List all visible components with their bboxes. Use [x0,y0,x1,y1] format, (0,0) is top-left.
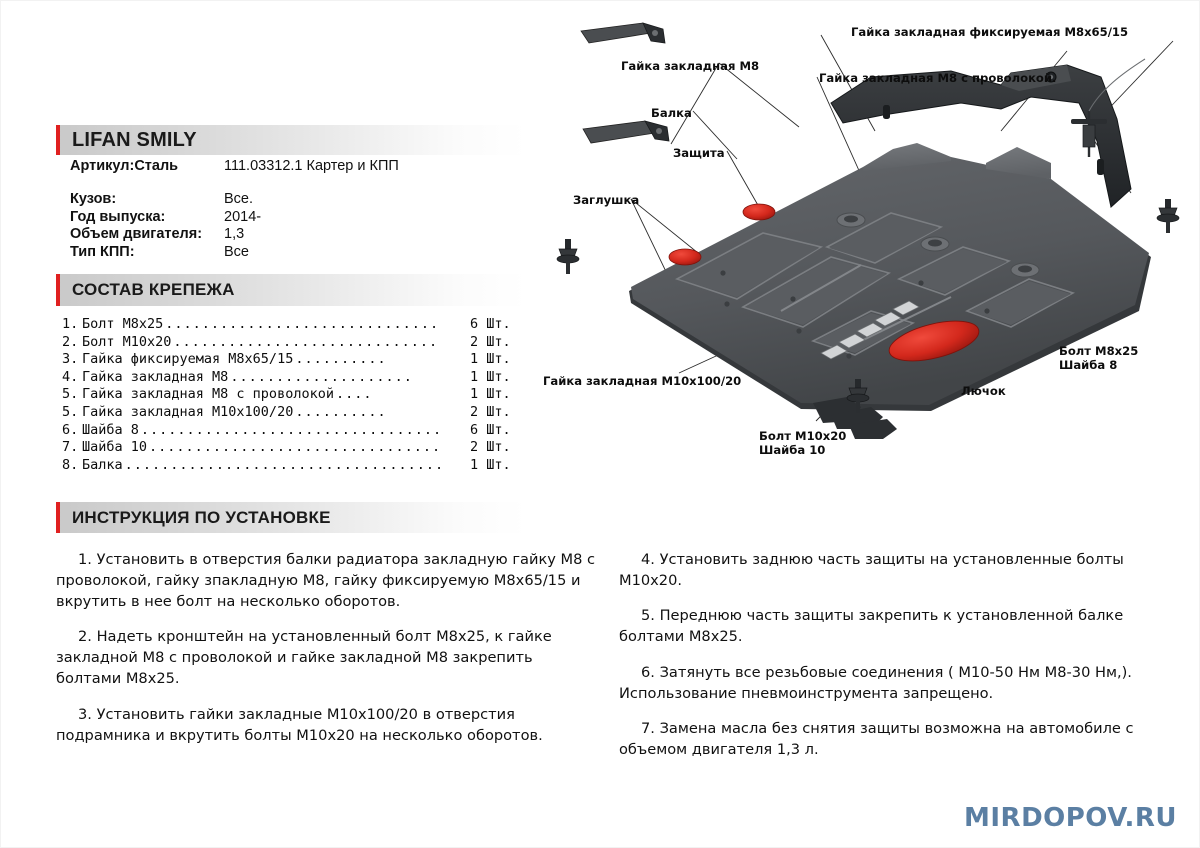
parts-list-item: 3.Гайка фиксируемая М8х65/15..........1 … [62,351,526,369]
part-quantity: 1 Шт. [470,369,526,387]
instruction-step: 4. Установить заднюю часть защиты на уст… [619,549,1179,591]
part-name: Балка [82,457,123,475]
instructions-right-column: 4. Установить заднюю часть защиты на уст… [619,534,1179,760]
part-dot-leader: ................................ [149,439,468,457]
part-dot-leader: .............................. [165,316,468,334]
part-index: 5. [62,386,82,404]
part-name: Шайба 8 [82,422,139,440]
spec-value: 1,3 [224,226,244,244]
callout-gaika-m10x100: Гайка закладная М10х100/20 [543,374,741,388]
spec-label: Год выпуска: [56,209,224,227]
parts-list-item: 5.Гайка закладная М8 с проволокой....1 Ш… [62,386,526,404]
part-quantity: 1 Шт. [470,386,526,404]
part-name: Гайка закладная М8 [82,369,228,387]
part-quantity: 2 Шт. [470,334,526,352]
part-name: Гайка закладная М10х100/20 [82,404,293,422]
product-title-bar: LIFAN SMILY [56,125,526,155]
callout-bolt-m8x25: Болт М8х25Шайба 8 [1059,344,1138,372]
callout-zashchita: Защита [673,146,725,160]
part-name: Гайка закладная М8 с проволокой [82,386,334,404]
part-dot-leader: ............................. [173,334,468,352]
spec-label: Тип КПП: [56,244,224,262]
spec-table: Кузов:Все.Год выпуска:2014-Объем двигате… [56,191,526,261]
instruction-step: 3. Установить гайки закладные М10х100/20… [56,704,601,746]
part-dot-leader: .......... [295,351,468,369]
parts-list-item: 4.Гайка закладная М8....................… [62,369,526,387]
part-name: Гайка фиксируемая М8х65/15 [82,351,293,369]
page-title: LIFAN SMILY [56,129,197,152]
spec-row: Объем двигателя:1,3 [56,226,526,244]
bolt-glyph-left [557,239,579,274]
part-quantity: 1 Шт. [470,351,526,369]
part-index: 6. [62,422,82,440]
part-quantity: 2 Шт. [470,439,526,457]
callout-balka: Балка [651,106,692,120]
callout-gaika-fiksiruemaya: Гайка закладная фиксируемая М8х65/15 [851,25,1128,39]
part-quantity: 2 Шт. [470,404,526,422]
callout-zaglushka: Заглушка [573,193,639,207]
spec-row: Год выпуска:2014- [56,209,526,227]
part-index: 5. [62,404,82,422]
document-page: LIFAN SMILY Артикул:Сталь 111.03312.1 Ка… [0,0,1200,848]
spec-label: Объем двигателя: [56,226,224,244]
part-dot-leader: ................................. [141,422,468,440]
callout-gaika-s-provolokoy: Гайка закладная М8 с проволокой. [819,71,1056,85]
part-name: Болт М10х20 [82,334,171,352]
parts-list: 1.Болт М8х25............................… [56,316,526,474]
instruction-step: 1. Установить в отверстия балки радиатор… [56,549,601,612]
article-value: 111.03312.1 Картер и КПП [224,158,399,174]
skid-plate-body [629,143,1151,439]
spec-value: Все. [224,191,253,209]
spec-label: Кузов: [56,191,224,209]
instructions-left-column: 1. Установить в отверстия балки радиатор… [56,534,601,746]
part-index: 4. [62,369,82,387]
spec-row: Тип КПП:Все [56,244,526,262]
parts-list-item: 8.Балка.................................… [62,457,526,475]
part-quantity: 6 Шт. [470,422,526,440]
part-name: Шайба 10 [82,439,147,457]
callout-gaika-zakladnaya-m8: Гайка закладная М8 [621,59,759,73]
spec-row: Кузов:Все. [56,191,526,209]
parts-list-item: 5.Гайка закладная М10х100/20..........2 … [62,404,526,422]
parts-section-header: СОСТАВ КРЕПЕЖА [56,274,526,306]
instruction-step: 6. Затянуть все резьбовые соединения ( М… [619,662,1179,704]
parts-list-item: 1.Болт М8х25............................… [62,316,526,334]
part-index: 1. [62,316,82,334]
article-row: Артикул:Сталь 111.03312.1 Картер и КПП [56,158,526,174]
part-index: 7. [62,439,82,457]
site-watermark: MIRDOPOV.RU [964,803,1177,833]
parts-section-title: СОСТАВ КРЕПЕЖА [56,280,235,300]
bolt-glyph-right [1157,199,1179,233]
parts-list-item: 6.Шайба 8...............................… [62,422,526,440]
product-info-block: LIFAN SMILY Артикул:Сталь 111.03312.1 Ка… [56,125,526,474]
part-quantity: 1 Шт. [470,457,526,475]
instruction-step: 7. Замена масла без снятия защиты возмож… [619,718,1179,760]
skid-plate-diagram: Гайка закладная фиксируемая М8х65/15Гайк… [531,11,1196,481]
instruction-step: 2. Надеть кронштейн на установленный бол… [56,626,601,689]
callout-bolt-m10x20: Болт М10х20Шайба 10 [759,429,846,457]
instructions-section-header: ИНСТРУКЦИЯ ПО УСТАНОВКЕ [56,502,526,533]
part-quantity: 6 Шт. [470,316,526,334]
parts-list-item: 2.Болт М10х20...........................… [62,334,526,352]
instruction-step: 5. Переднюю часть защиты закрепить к уст… [619,605,1179,647]
parts-list-item: 7.Шайба 10..............................… [62,439,526,457]
instructions-section-title: ИНСТРУКЦИЯ ПО УСТАНОВКЕ [56,508,331,528]
spec-value: 2014- [224,209,261,227]
article-label: Артикул:Сталь [56,158,224,174]
part-name: Болт М8х25 [82,316,163,334]
callout-lyuchok: Лючок [961,384,1006,398]
part-index: 2. [62,334,82,352]
part-dot-leader: .... [336,386,468,404]
part-dot-leader: .................... [230,369,468,387]
part-dot-leader: .......... [295,404,468,422]
part-dot-leader: ................................... [125,457,468,475]
part-index: 8. [62,457,82,475]
part-index: 3. [62,351,82,369]
spec-value: Все [224,244,249,262]
